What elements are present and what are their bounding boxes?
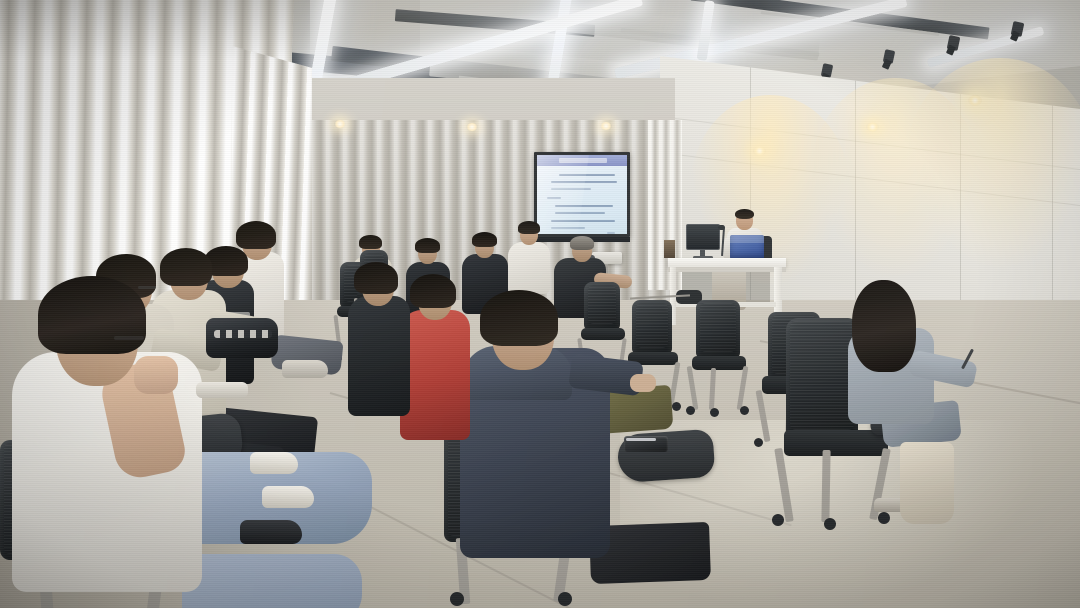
curtain-top-shadow: [0, 0, 310, 60]
eyeglasses-icon: [138, 286, 156, 289]
phone-screen-glint: [626, 438, 656, 441]
sneaker-far: [282, 360, 328, 378]
back-downlight-1: [334, 120, 346, 128]
presenter-desk-top: [668, 258, 786, 267]
beige-tote-bag: [900, 442, 954, 524]
microphone-icon: [718, 225, 725, 230]
computer-tower: [664, 240, 675, 258]
black-sandal: [240, 520, 302, 544]
presenter-desk-edge: [668, 267, 786, 272]
hand-on-chin: [134, 356, 178, 394]
woman-hair: [852, 280, 916, 372]
hair: [160, 248, 212, 286]
white-sneaker-1: [250, 452, 298, 474]
hair: [480, 290, 558, 346]
blue-jeans-lower: [182, 554, 362, 608]
empty-chair-1: [690, 300, 756, 420]
hair: [38, 276, 146, 354]
white-sneaker-2: [262, 486, 314, 508]
wall-reveal-line: [660, 152, 1080, 206]
blue-bag-flap: [730, 235, 764, 243]
presenter-hair: [735, 209, 754, 219]
bag-pattern: [214, 330, 272, 338]
downlight-1: [753, 146, 766, 156]
backpack-left: [206, 318, 278, 358]
hair: [410, 274, 456, 308]
hair: [236, 221, 276, 249]
red-jacket: [400, 310, 470, 440]
eyeglasses-icon: [114, 336, 144, 340]
projected-slide: [537, 155, 627, 234]
hand: [630, 374, 656, 392]
classroom-photo: [0, 0, 1080, 608]
dark-top: [348, 296, 410, 416]
projection-screen: [534, 152, 630, 237]
back-downlight-3: [600, 122, 612, 130]
downlight-2: [866, 122, 879, 132]
back-downlight-2: [466, 123, 478, 131]
downlight-3: [968, 95, 982, 106]
monitor: [686, 224, 720, 250]
hair: [354, 262, 398, 294]
notebook-on-tablet: [196, 382, 248, 398]
